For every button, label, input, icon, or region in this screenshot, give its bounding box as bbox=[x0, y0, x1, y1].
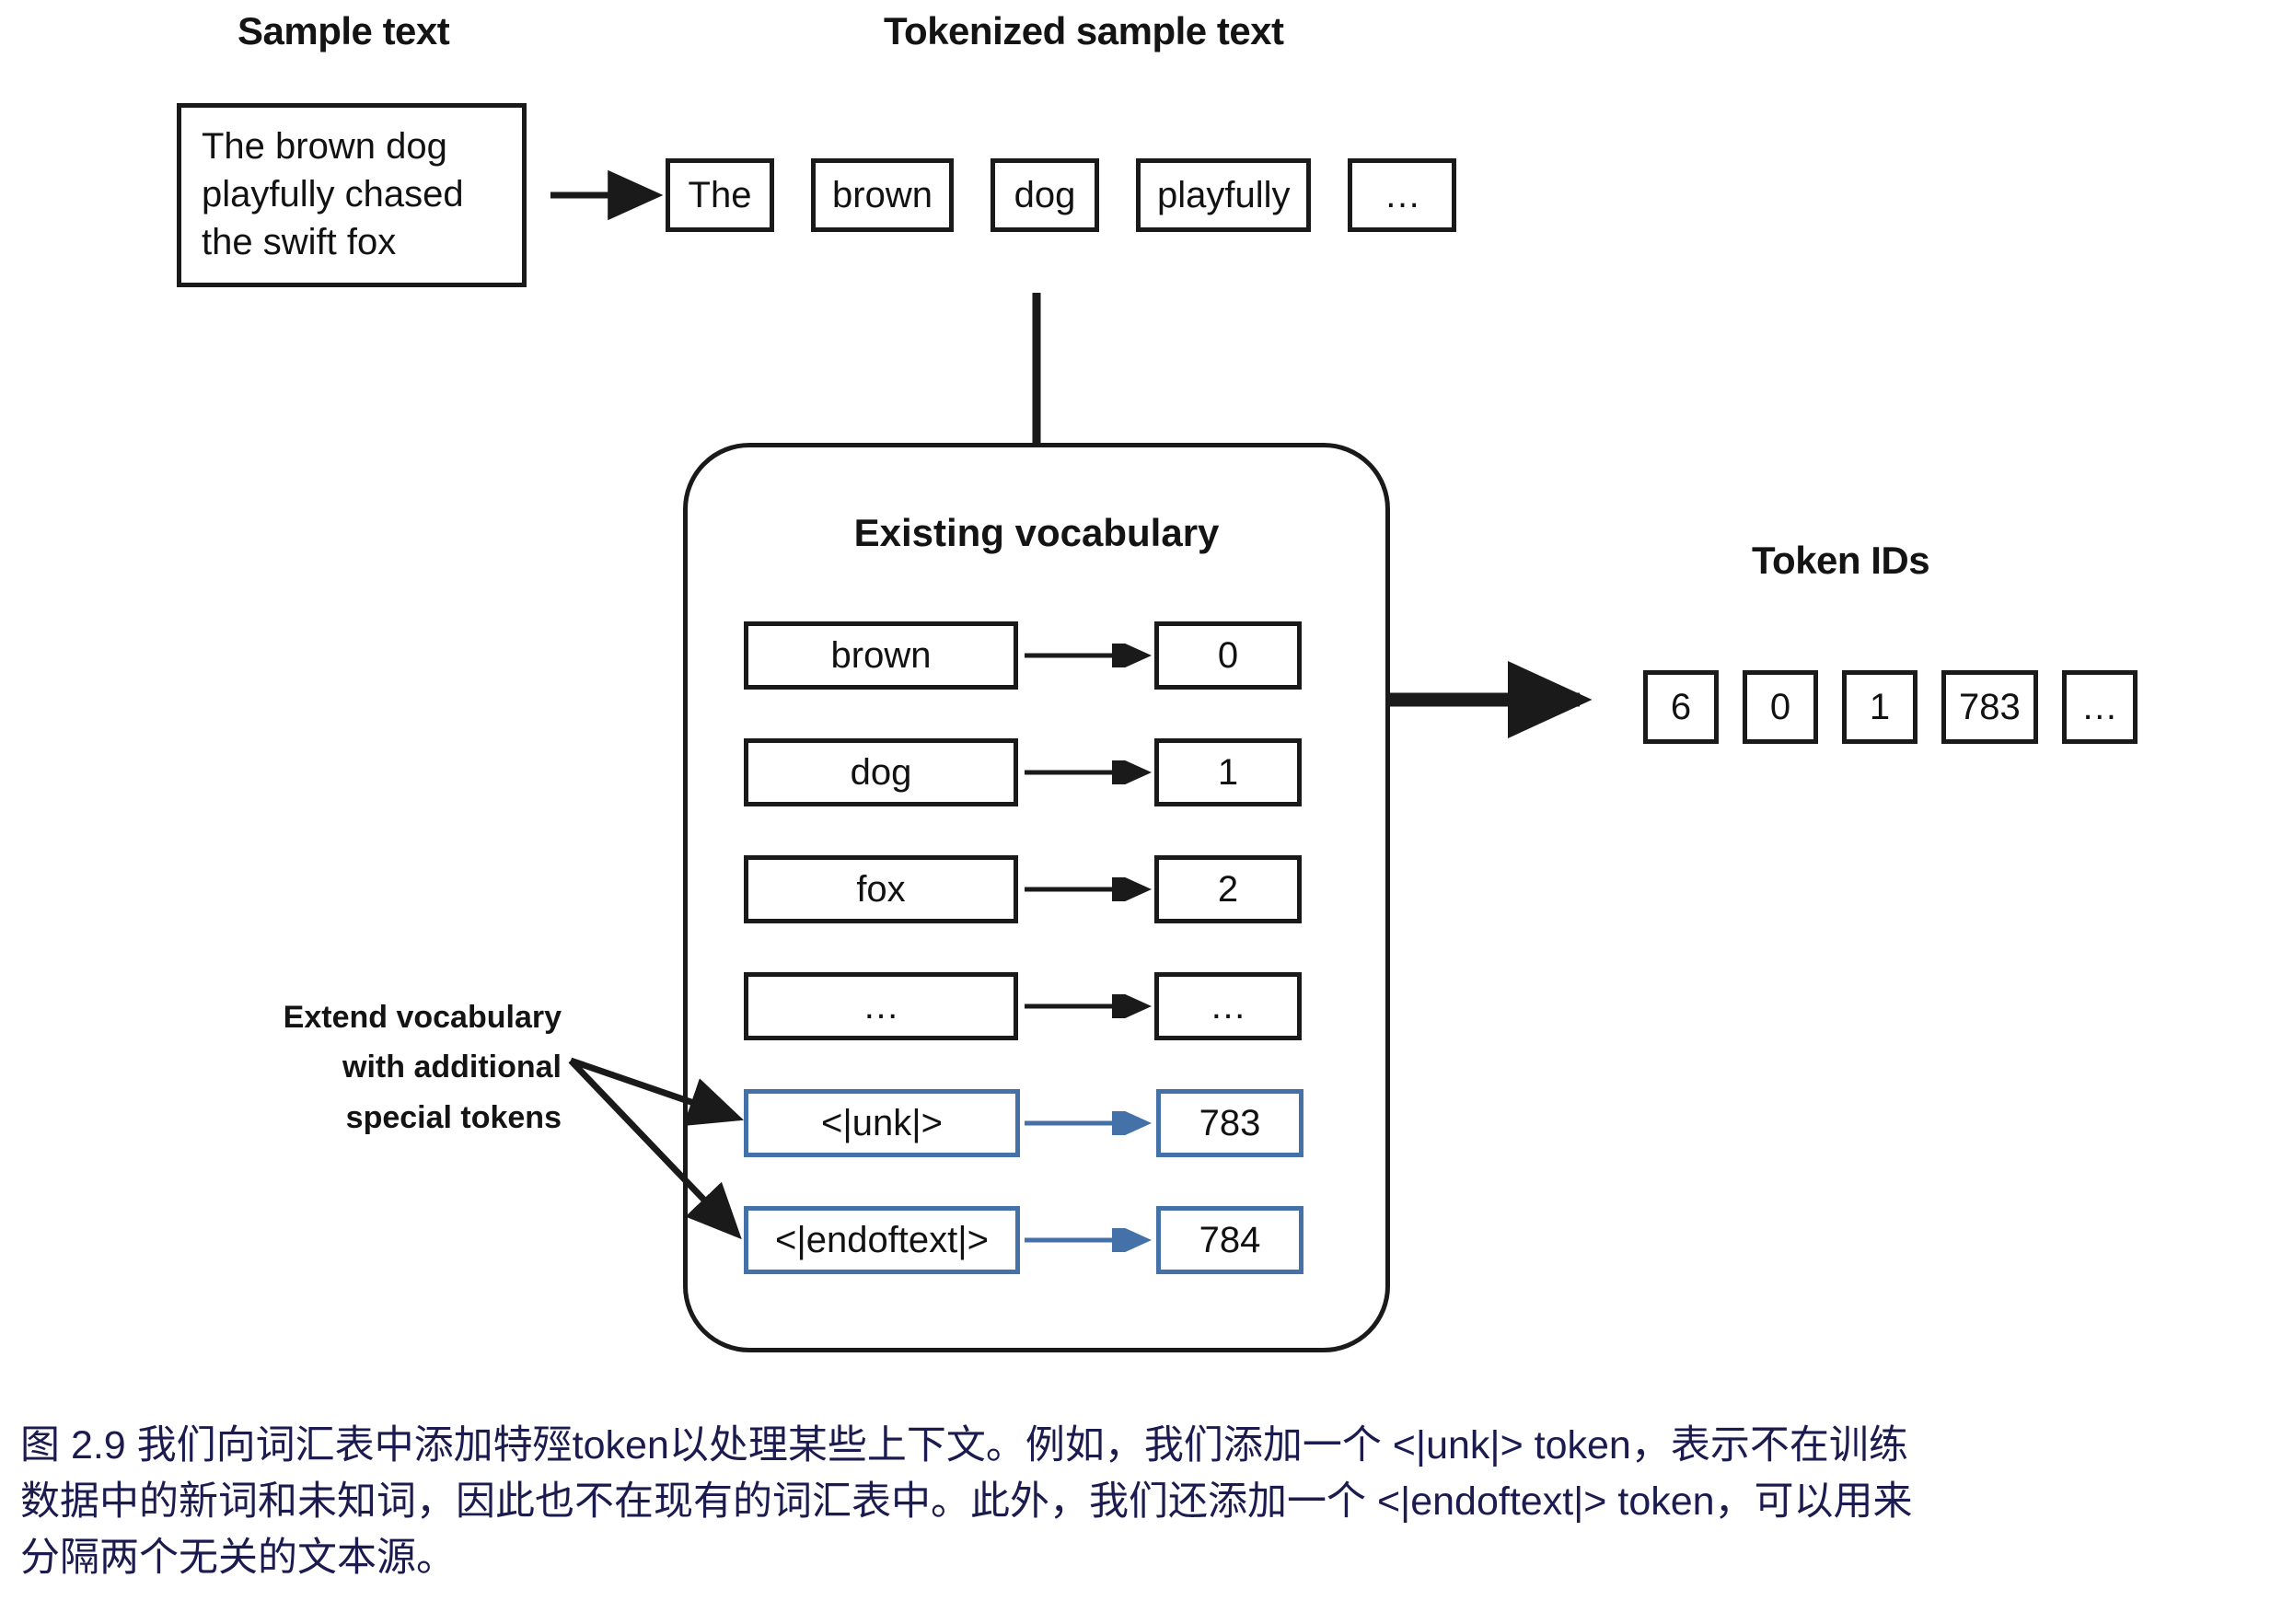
vocabulary-row: dog1 bbox=[744, 736, 1333, 809]
token-ids-heading: Token IDs bbox=[1752, 539, 1929, 583]
existing-vocabulary-title: Existing vocabulary bbox=[683, 511, 1390, 555]
token-id-chip: 783 bbox=[1941, 670, 2038, 744]
tokenized-text-row: Thebrowndogplayfully… bbox=[666, 158, 1456, 232]
vocabulary-token-id: 784 bbox=[1156, 1206, 1303, 1274]
vocabulary-row-arrow bbox=[1025, 994, 1153, 1018]
extend-note-line-2: with additional bbox=[166, 1042, 562, 1092]
token-chip: playfully bbox=[1136, 158, 1312, 232]
vocabulary-token-id: 783 bbox=[1156, 1089, 1303, 1157]
vocabulary-row-arrow bbox=[1025, 1111, 1153, 1135]
token-chip: dog bbox=[991, 158, 1099, 232]
token-id-chip: 1 bbox=[1842, 670, 1917, 744]
token-chip: brown bbox=[811, 158, 954, 232]
vocabulary-row: fox2 bbox=[744, 853, 1333, 926]
vocabulary-row-arrow bbox=[1025, 1228, 1153, 1252]
vocabulary-token-id: 2 bbox=[1154, 855, 1302, 923]
vocabulary-word: brown bbox=[744, 621, 1018, 690]
sample-text-heading: Sample text bbox=[238, 9, 449, 53]
vocabulary-token-id: 0 bbox=[1154, 621, 1302, 690]
token-chip: The bbox=[666, 158, 774, 232]
vocabulary-row-arrow bbox=[1025, 760, 1153, 784]
figure-caption: 图 2.9 我们向词汇表中添加特殌token以处理某些上下文。例如，我们添加一个… bbox=[20, 1418, 2276, 1586]
token-id-chip: 0 bbox=[1743, 670, 1818, 744]
vocabulary-word: <|endoftext|> bbox=[744, 1206, 1020, 1274]
caption-line-2: 数据中的新词和未知词，因此也不在现有的词汇表中。此外，我们还添加一个 <|end… bbox=[20, 1474, 2276, 1530]
vocabulary-row-special: <|endoftext|>784 bbox=[744, 1203, 1333, 1277]
vocabulary-row-special: <|unk|>783 bbox=[744, 1086, 1333, 1160]
vocabulary-token-id: 1 bbox=[1154, 738, 1302, 806]
vocabulary-word: <|unk|> bbox=[744, 1089, 1020, 1157]
vocabulary-row-arrow bbox=[1025, 877, 1153, 901]
extend-vocabulary-note: Extend vocabulary with additional specia… bbox=[166, 992, 562, 1143]
vocabulary-rows: brown0dog1fox2……<|unk|>783<|endoftext|>7… bbox=[744, 619, 1333, 1277]
vocabulary-row: brown0 bbox=[744, 619, 1333, 692]
vocabulary-token-id: … bbox=[1154, 972, 1302, 1040]
vocabulary-row-arrow bbox=[1025, 644, 1153, 667]
vocabulary-word: dog bbox=[744, 738, 1018, 806]
vocabulary-word: … bbox=[744, 972, 1018, 1040]
extend-note-line-3: special tokens bbox=[166, 1093, 562, 1143]
token-id-chip: … bbox=[2062, 670, 2138, 744]
vocabulary-row: …… bbox=[744, 969, 1333, 1043]
caption-line-3: 分隔两个无关的文本源。 bbox=[20, 1530, 2276, 1586]
sample-text-value: The brown dog playfully chased the swift… bbox=[202, 122, 515, 266]
extend-note-line-1: Extend vocabulary bbox=[166, 992, 562, 1042]
token-id-chip: 6 bbox=[1643, 670, 1719, 744]
vocabulary-word: fox bbox=[744, 855, 1018, 923]
token-ids-row: 601783… bbox=[1643, 670, 2138, 744]
token-chip: … bbox=[1348, 158, 1456, 232]
figure-canvas: Sample text Tokenized sample text Token … bbox=[0, 0, 2294, 1624]
sample-text-box: The brown dog playfully chased the swift… bbox=[177, 103, 527, 287]
tokenized-sample-text-heading: Tokenized sample text bbox=[884, 9, 1284, 53]
caption-line-1: 图 2.9 我们向词汇表中添加特殌token以处理某些上下文。例如，我们添加一个… bbox=[20, 1418, 2276, 1474]
